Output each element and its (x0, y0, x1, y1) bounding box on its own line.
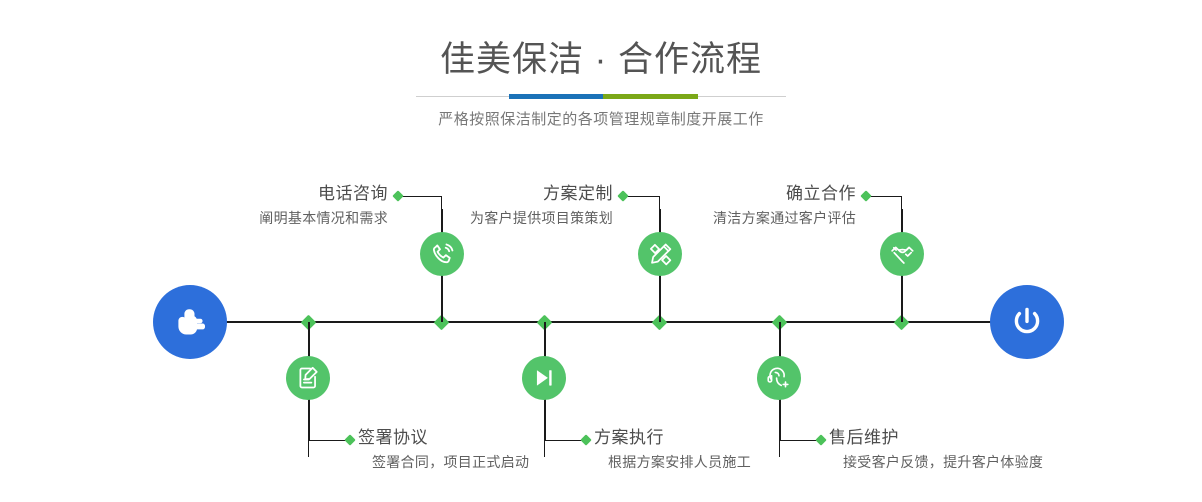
step-label-6: 售后维护 接受客户反馈，提升客户体验度 (829, 427, 1159, 473)
step-elbow-vertical (779, 440, 780, 457)
step-elbow-vertical (901, 196, 902, 210)
step-title: 确立合作 (570, 183, 856, 205)
handshake-icon (889, 241, 916, 268)
support-agent-add-icon (766, 365, 792, 391)
step-node-6[interactable] (757, 356, 801, 400)
step-elbow-vertical (544, 440, 545, 457)
timeline-end-node (990, 285, 1064, 359)
divider-segment-blue (509, 94, 603, 99)
step-node-3[interactable] (638, 232, 682, 276)
phone-call-icon (429, 241, 456, 268)
timeline-start-node (153, 285, 227, 359)
document-edit-icon (295, 365, 321, 391)
step-elbow-vertical (308, 440, 309, 457)
step-desc: 接受客户反馈，提升客户体验度 (829, 449, 1159, 473)
pencil-ruler-icon (647, 241, 674, 268)
step-label-tip (344, 434, 355, 445)
step-node-4[interactable] (522, 356, 566, 400)
step-node-2[interactable] (286, 356, 330, 400)
step-label-5: 确立合作 清洁方案通过客户评估 (570, 183, 856, 229)
step-node-5[interactable] (880, 232, 924, 276)
step-desc: 清洁方案通过客户评估 (570, 205, 856, 229)
step-title: 售后维护 (829, 427, 1159, 449)
step-node-1[interactable] (420, 232, 464, 276)
play-to-end-icon (531, 365, 557, 391)
step-label-tip (860, 190, 871, 201)
divider-segment-green (603, 94, 698, 99)
header: 佳美保洁 · 合作流程 严格按照保洁制定的各项管理规章制度开展工作 (0, 0, 1202, 129)
power-icon (1006, 301, 1048, 343)
title-divider (416, 96, 786, 97)
page-subtitle: 严格按照保洁制定的各项管理规章制度开展工作 (0, 97, 1202, 129)
page-title: 佳美保洁 · 合作流程 (0, 0, 1202, 82)
pointing-hand-icon (170, 302, 210, 342)
timeline: 电话咨询 阐明基本情况和需求 签署协议 签署合同，项目正式启 (0, 150, 1202, 502)
step-elbow-horizontal (867, 196, 902, 197)
process-flow-infographic: 佳美保洁 · 合作流程 严格按照保洁制定的各项管理规章制度开展工作 (0, 0, 1202, 502)
